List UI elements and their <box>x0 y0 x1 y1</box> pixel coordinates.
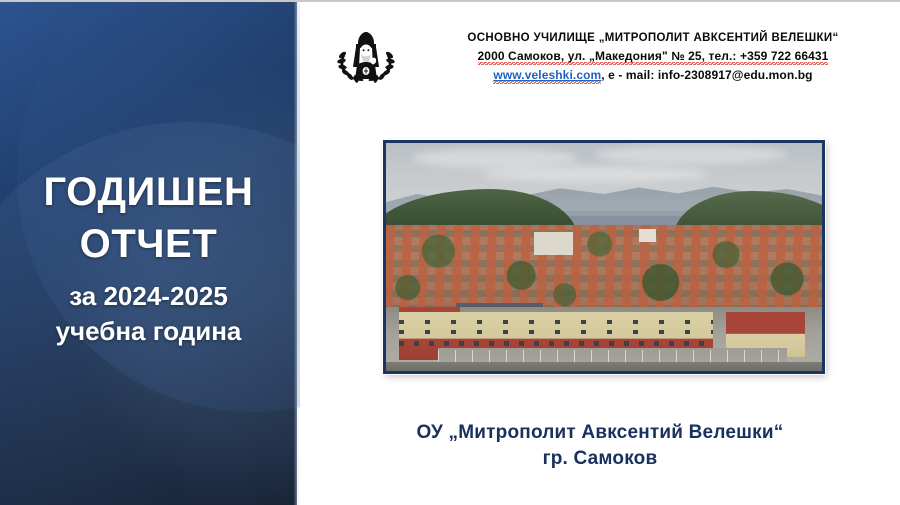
slide-caption: ОУ „Митрополит Авксентий Велешки“ гр. Са… <box>300 420 900 472</box>
school-website-link[interactable]: www.veleshki.com <box>493 68 601 84</box>
letterhead: ОСНОВНО УЧИЛИЩЕ „МИТРОПОЛИТ АВКСЕНТИЙ ВЕ… <box>335 24 895 104</box>
photo-cloud <box>482 166 709 182</box>
photo-town-rooftops <box>386 225 822 312</box>
letterhead-text-block: ОСНОВНО УЧИЛИЩЕ „МИТРОПОЛИТ АВКСЕНТИЙ ВЕ… <box>413 30 893 85</box>
photo-tall-building <box>639 229 656 243</box>
school-email-address: info-2308917@edu.mon.bg <box>658 68 813 82</box>
school-official-name: ОСНОВНО УЧИЛИЩЕ „МИТРОПОЛИТ АВКСЕНТИЙ ВЕ… <box>413 30 893 47</box>
report-subtitle-school-year: учебна година <box>0 318 297 344</box>
caption-city: гр. Самоков <box>300 446 900 472</box>
presentation-slide: ГОДИШЕН ОТЧЕТ за 2024-2025 учебна година <box>0 0 900 505</box>
photo-cloud <box>412 148 578 169</box>
photo-school-windows-row <box>399 341 713 346</box>
report-title-line-1: ГОДИШЕН <box>0 172 297 212</box>
school-aerial-photo-image <box>386 143 822 371</box>
school-web-email: www.veleshki.com, e - mail: info-2308917… <box>413 66 893 85</box>
photo-town-trees <box>386 225 822 312</box>
report-title-line-2: ОТЧЕТ <box>0 224 297 264</box>
caption-school-name: ОУ „Митрополит Авксентий Велешки“ <box>300 420 900 446</box>
photo-school-windows-row <box>399 320 713 324</box>
photo-street <box>386 362 822 371</box>
school-address-phone: 2000 Самоков, ул. „Македония" № 25, тел.… <box>413 47 893 66</box>
school-aerial-photo <box>383 140 825 374</box>
school-address-phone-text: 2000 Самоков, ул. „Македония" № 25, тел.… <box>478 49 829 65</box>
school-emblem-bishop-laurel-icon <box>335 27 397 89</box>
report-subtitle-year: за 2024-2025 <box>0 283 297 309</box>
email-separator-text: , e - mail: <box>601 68 658 82</box>
photo-school-windows-row <box>399 330 713 334</box>
photo-cloud <box>595 145 787 163</box>
photo-white-building <box>534 232 573 255</box>
